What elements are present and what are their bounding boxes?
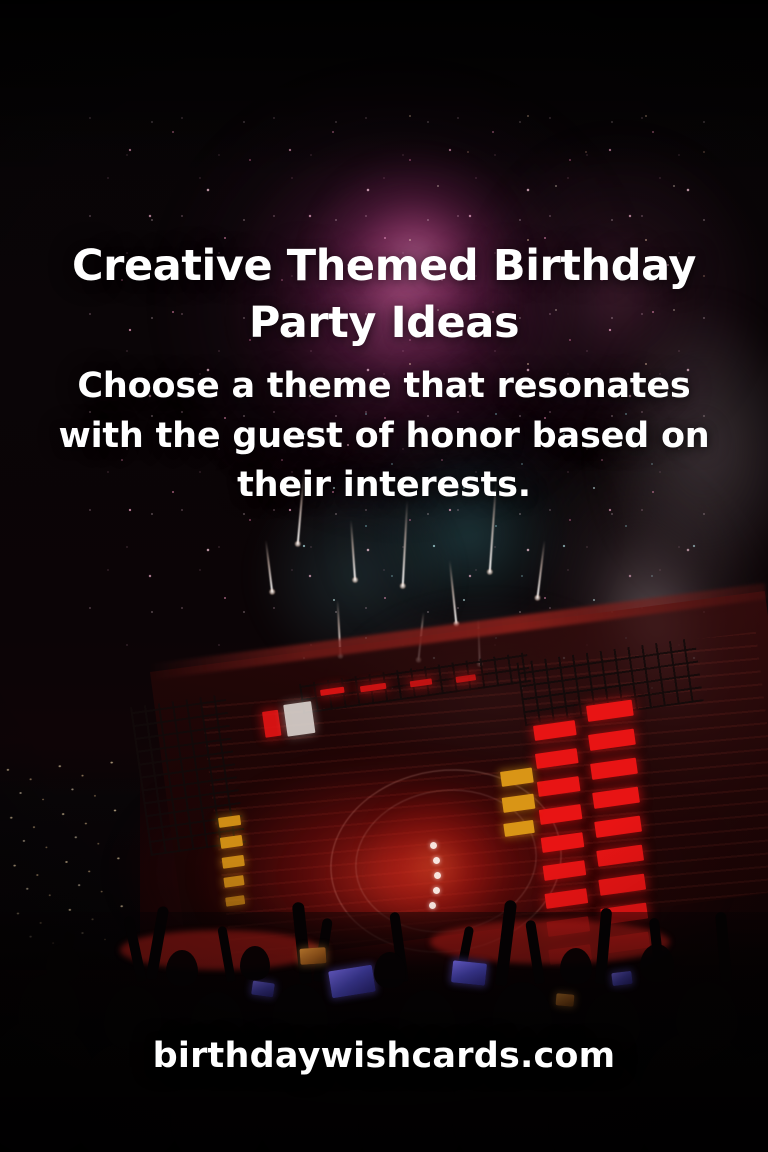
page-title: Creative Themed Birthday Party Ideas [10,238,758,352]
footer-website-url: birthdaywishcards.com [0,1036,768,1076]
pinterest-pin-graphic: Creative Themed Birthday Party Ideas Cho… [0,0,768,1152]
text-overlay: Creative Themed Birthday Party Ideas Cho… [0,0,768,1152]
page-subtitle: Choose a theme that resonates with the g… [44,362,724,511]
